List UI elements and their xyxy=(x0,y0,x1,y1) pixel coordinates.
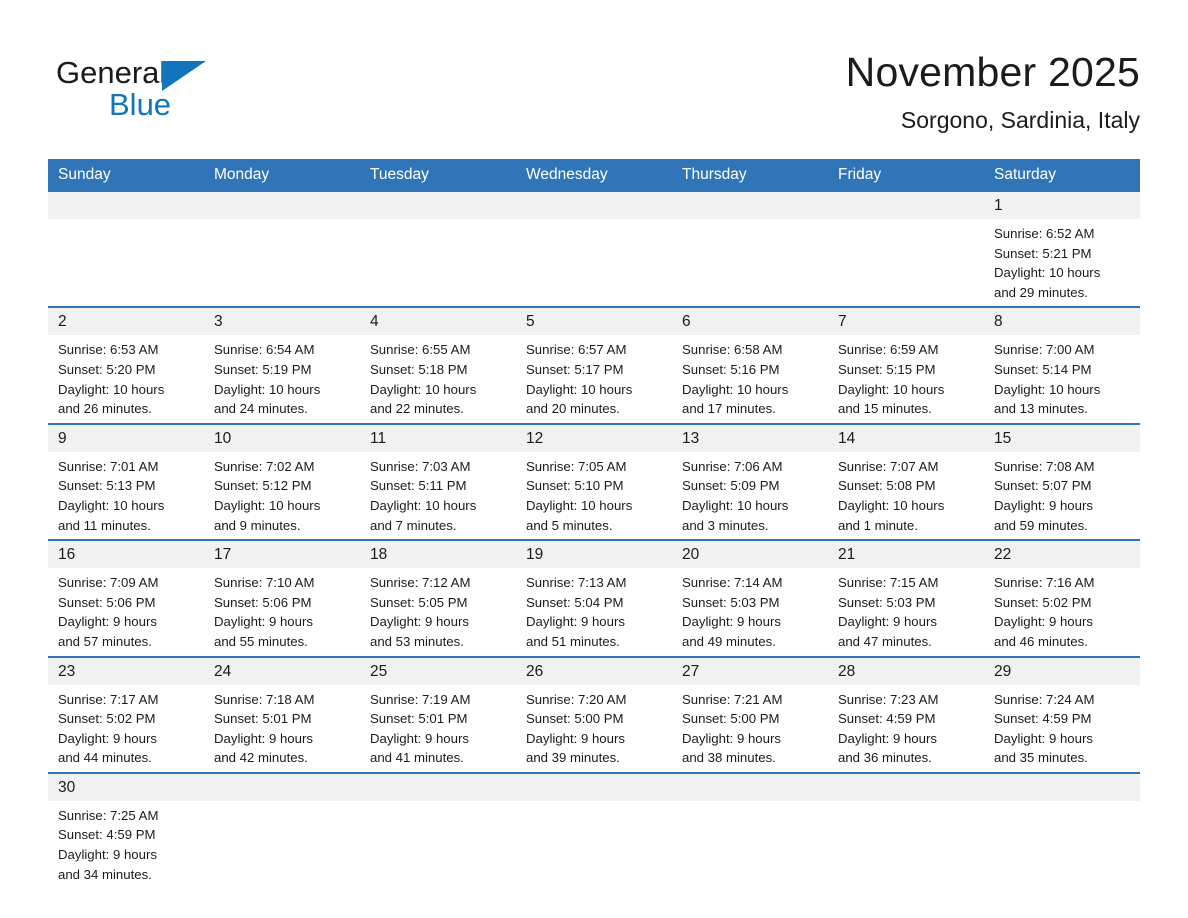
day-details: Sunrise: 7:13 AM Sunset: 5:04 PM Dayligh… xyxy=(516,568,672,655)
calendar-week-row: 23 Sunrise: 7:17 AM Sunset: 5:02 PM Dayl… xyxy=(48,657,1140,773)
day-number: 4 xyxy=(360,308,516,335)
day-details xyxy=(828,219,984,228)
daylight-text-line1: Daylight: 10 hours xyxy=(838,380,978,400)
daylight-text-line2: and 41 minutes. xyxy=(370,748,510,768)
sunset-text: Sunset: 5:05 PM xyxy=(370,593,510,613)
daylight-text-line2: and 55 minutes. xyxy=(214,632,354,652)
sunrise-text: Sunrise: 7:03 AM xyxy=(370,457,510,477)
day-number: 21 xyxy=(828,541,984,568)
sunset-text: Sunset: 5:17 PM xyxy=(526,360,666,380)
daylight-text-line2: and 26 minutes. xyxy=(58,399,198,419)
logo-text-blue: Blue xyxy=(109,86,171,124)
day-cell[interactable]: 8 Sunrise: 7:00 AM Sunset: 5:14 PM Dayli… xyxy=(984,307,1140,423)
sunset-text: Sunset: 5:00 PM xyxy=(682,709,822,729)
sunrise-text: Sunrise: 7:17 AM xyxy=(58,690,198,710)
day-cell[interactable] xyxy=(828,192,984,307)
day-number xyxy=(516,774,672,801)
day-number xyxy=(360,192,516,219)
location-subtitle: Sorgono, Sardinia, Italy xyxy=(440,104,1140,136)
day-number: 22 xyxy=(984,541,1140,568)
day-details: Sunrise: 6:57 AM Sunset: 5:17 PM Dayligh… xyxy=(516,335,672,422)
day-details xyxy=(516,219,672,228)
day-cell[interactable]: 6 Sunrise: 6:58 AM Sunset: 5:16 PM Dayli… xyxy=(672,307,828,423)
day-number: 8 xyxy=(984,308,1140,335)
daylight-text-line1: Daylight: 10 hours xyxy=(682,496,822,516)
sunset-text: Sunset: 5:13 PM xyxy=(58,476,198,496)
sunrise-text: Sunrise: 7:25 AM xyxy=(58,806,198,826)
day-number: 13 xyxy=(672,425,828,452)
sunset-text: Sunset: 5:04 PM xyxy=(526,593,666,613)
general-blue-logo[interactable]: General Blue xyxy=(56,54,336,144)
day-number: 23 xyxy=(48,658,204,685)
day-number: 19 xyxy=(516,541,672,568)
day-cell[interactable]: 4 Sunrise: 6:55 AM Sunset: 5:18 PM Dayli… xyxy=(360,307,516,423)
daylight-text-line1: Daylight: 10 hours xyxy=(370,380,510,400)
day-number: 15 xyxy=(984,425,1140,452)
weekday-header-friday: Friday xyxy=(828,159,984,192)
daylight-text-line1: Daylight: 10 hours xyxy=(58,496,198,516)
sunrise-text: Sunrise: 7:08 AM xyxy=(994,457,1134,477)
calendar-table: Sunday Monday Tuesday Wednesday Thursday… xyxy=(48,159,1140,888)
day-number: 1 xyxy=(984,192,1140,219)
page-title: November 2025 xyxy=(440,46,1140,98)
day-number: 28 xyxy=(828,658,984,685)
daylight-text-line2: and 59 minutes. xyxy=(994,516,1134,536)
daylight-text-line2: and 22 minutes. xyxy=(370,399,510,419)
sunrise-text: Sunrise: 7:21 AM xyxy=(682,690,822,710)
sunset-text: Sunset: 5:12 PM xyxy=(214,476,354,496)
day-details xyxy=(984,801,1140,810)
sunset-text: Sunset: 5:00 PM xyxy=(526,709,666,729)
daylight-text-line2: and 39 minutes. xyxy=(526,748,666,768)
daylight-text-line1: Daylight: 10 hours xyxy=(838,496,978,516)
day-details xyxy=(672,219,828,228)
day-cell[interactable] xyxy=(360,773,516,888)
day-details: Sunrise: 7:03 AM Sunset: 5:11 PM Dayligh… xyxy=(360,452,516,539)
day-number xyxy=(204,192,360,219)
day-number: 16 xyxy=(48,541,204,568)
day-number: 24 xyxy=(204,658,360,685)
day-number: 3 xyxy=(204,308,360,335)
daylight-text-line2: and 9 minutes. xyxy=(214,516,354,536)
day-cell[interactable]: 3 Sunrise: 6:54 AM Sunset: 5:19 PM Dayli… xyxy=(204,307,360,423)
sunset-text: Sunset: 5:03 PM xyxy=(838,593,978,613)
day-details: Sunrise: 7:06 AM Sunset: 5:09 PM Dayligh… xyxy=(672,452,828,539)
day-number xyxy=(516,192,672,219)
day-details xyxy=(48,219,204,228)
day-number xyxy=(984,774,1140,801)
day-details xyxy=(828,801,984,810)
daylight-text-line1: Daylight: 9 hours xyxy=(682,729,822,749)
day-details: Sunrise: 7:19 AM Sunset: 5:01 PM Dayligh… xyxy=(360,685,516,772)
day-number: 10 xyxy=(204,425,360,452)
day-details: Sunrise: 6:54 AM Sunset: 5:19 PM Dayligh… xyxy=(204,335,360,422)
day-details: Sunrise: 7:15 AM Sunset: 5:03 PM Dayligh… xyxy=(828,568,984,655)
daylight-text-line2: and 46 minutes. xyxy=(994,632,1134,652)
day-cell[interactable]: 16 Sunrise: 7:09 AM Sunset: 5:06 PM Dayl… xyxy=(48,540,204,656)
day-details: Sunrise: 7:16 AM Sunset: 5:02 PM Dayligh… xyxy=(984,568,1140,655)
daylight-text-line2: and 49 minutes. xyxy=(682,632,822,652)
sunrise-text: Sunrise: 7:12 AM xyxy=(370,573,510,593)
daylight-text-line2: and 15 minutes. xyxy=(838,399,978,419)
daylight-text-line1: Daylight: 9 hours xyxy=(994,496,1134,516)
day-details: Sunrise: 7:08 AM Sunset: 5:07 PM Dayligh… xyxy=(984,452,1140,539)
day-cell[interactable]: 20 Sunrise: 7:14 AM Sunset: 5:03 PM Dayl… xyxy=(672,540,828,656)
day-cell[interactable]: 18 Sunrise: 7:12 AM Sunset: 5:05 PM Dayl… xyxy=(360,540,516,656)
daylight-text-line1: Daylight: 10 hours xyxy=(994,263,1134,283)
day-details: Sunrise: 6:58 AM Sunset: 5:16 PM Dayligh… xyxy=(672,335,828,422)
day-cell[interactable]: 23 Sunrise: 7:17 AM Sunset: 5:02 PM Dayl… xyxy=(48,657,204,773)
day-number: 26 xyxy=(516,658,672,685)
sunset-text: Sunset: 5:01 PM xyxy=(370,709,510,729)
day-details: Sunrise: 6:53 AM Sunset: 5:20 PM Dayligh… xyxy=(48,335,204,422)
day-number: 6 xyxy=(672,308,828,335)
day-cell[interactable]: 17 Sunrise: 7:10 AM Sunset: 5:06 PM Dayl… xyxy=(204,540,360,656)
day-details: Sunrise: 7:17 AM Sunset: 5:02 PM Dayligh… xyxy=(48,685,204,772)
day-number: 12 xyxy=(516,425,672,452)
day-cell[interactable]: 30 Sunrise: 7:25 AM Sunset: 4:59 PM Dayl… xyxy=(48,773,204,888)
daylight-text-line1: Daylight: 9 hours xyxy=(526,729,666,749)
day-cell[interactable] xyxy=(204,192,360,307)
day-cell[interactable] xyxy=(516,773,672,888)
day-number xyxy=(672,192,828,219)
sunset-text: Sunset: 5:02 PM xyxy=(58,709,198,729)
daylight-text-line2: and 34 minutes. xyxy=(58,865,198,885)
day-cell[interactable]: 12 Sunrise: 7:05 AM Sunset: 5:10 PM Dayl… xyxy=(516,424,672,540)
sunset-text: Sunset: 5:20 PM xyxy=(58,360,198,380)
sunrise-text: Sunrise: 7:09 AM xyxy=(58,573,198,593)
daylight-text-line1: Daylight: 9 hours xyxy=(58,729,198,749)
day-details: Sunrise: 6:55 AM Sunset: 5:18 PM Dayligh… xyxy=(360,335,516,422)
page-header: General Blue November 2025 Sorgono, Sard… xyxy=(48,46,1140,151)
day-details: Sunrise: 7:00 AM Sunset: 5:14 PM Dayligh… xyxy=(984,335,1140,422)
sunrise-text: Sunrise: 7:20 AM xyxy=(526,690,666,710)
day-number: 11 xyxy=(360,425,516,452)
day-cell[interactable]: 1 Sunrise: 6:52 AM Sunset: 5:21 PM Dayli… xyxy=(984,192,1140,307)
sunrise-text: Sunrise: 7:16 AM xyxy=(994,573,1134,593)
sunrise-text: Sunrise: 7:13 AM xyxy=(526,573,666,593)
sunset-text: Sunset: 5:07 PM xyxy=(994,476,1134,496)
day-cell[interactable]: 2 Sunrise: 6:53 AM Sunset: 5:20 PM Dayli… xyxy=(48,307,204,423)
day-details: Sunrise: 7:25 AM Sunset: 4:59 PM Dayligh… xyxy=(48,801,204,888)
day-cell[interactable]: 11 Sunrise: 7:03 AM Sunset: 5:11 PM Dayl… xyxy=(360,424,516,540)
day-cell[interactable]: 28 Sunrise: 7:23 AM Sunset: 4:59 PM Dayl… xyxy=(828,657,984,773)
weekday-header-wednesday: Wednesday xyxy=(516,159,672,192)
calendar-week-row: 9 Sunrise: 7:01 AM Sunset: 5:13 PM Dayli… xyxy=(48,424,1140,540)
day-details xyxy=(204,801,360,810)
day-cell[interactable]: 9 Sunrise: 7:01 AM Sunset: 5:13 PM Dayli… xyxy=(48,424,204,540)
daylight-text-line1: Daylight: 10 hours xyxy=(682,380,822,400)
sunrise-text: Sunrise: 7:06 AM xyxy=(682,457,822,477)
daylight-text-line2: and 47 minutes. xyxy=(838,632,978,652)
sunset-text: Sunset: 5:01 PM xyxy=(214,709,354,729)
daylight-text-line2: and 44 minutes. xyxy=(58,748,198,768)
day-number: 7 xyxy=(828,308,984,335)
daylight-text-line1: Daylight: 9 hours xyxy=(370,612,510,632)
day-details: Sunrise: 6:52 AM Sunset: 5:21 PM Dayligh… xyxy=(984,219,1140,306)
day-details xyxy=(204,219,360,228)
daylight-text-line1: Daylight: 9 hours xyxy=(370,729,510,749)
daylight-text-line2: and 17 minutes. xyxy=(682,399,822,419)
sunrise-text: Sunrise: 7:18 AM xyxy=(214,690,354,710)
weekday-header-thursday: Thursday xyxy=(672,159,828,192)
day-number: 2 xyxy=(48,308,204,335)
calendar-week-row: 2 Sunrise: 6:53 AM Sunset: 5:20 PM Dayli… xyxy=(48,307,1140,423)
sunrise-text: Sunrise: 7:00 AM xyxy=(994,340,1134,360)
daylight-text-line2: and 20 minutes. xyxy=(526,399,666,419)
day-details: Sunrise: 7:20 AM Sunset: 5:00 PM Dayligh… xyxy=(516,685,672,772)
day-number: 14 xyxy=(828,425,984,452)
daylight-text-line1: Daylight: 9 hours xyxy=(838,729,978,749)
daylight-text-line2: and 1 minute. xyxy=(838,516,978,536)
daylight-text-line1: Daylight: 9 hours xyxy=(58,612,198,632)
calendar-header-row: Sunday Monday Tuesday Wednesday Thursday… xyxy=(48,159,1140,192)
daylight-text-line2: and 35 minutes. xyxy=(994,748,1134,768)
sunset-text: Sunset: 5:15 PM xyxy=(838,360,978,380)
day-details: Sunrise: 7:24 AM Sunset: 4:59 PM Dayligh… xyxy=(984,685,1140,772)
daylight-text-line1: Daylight: 9 hours xyxy=(214,612,354,632)
daylight-text-line2: and 3 minutes. xyxy=(682,516,822,536)
sunset-text: Sunset: 5:08 PM xyxy=(838,476,978,496)
daylight-text-line1: Daylight: 10 hours xyxy=(214,496,354,516)
sunrise-text: Sunrise: 7:02 AM xyxy=(214,457,354,477)
daylight-text-line2: and 57 minutes. xyxy=(58,632,198,652)
sunset-text: Sunset: 5:11 PM xyxy=(370,476,510,496)
daylight-text-line2: and 11 minutes. xyxy=(58,516,198,536)
day-number xyxy=(360,774,516,801)
day-details: Sunrise: 6:59 AM Sunset: 5:15 PM Dayligh… xyxy=(828,335,984,422)
weekday-header-monday: Monday xyxy=(204,159,360,192)
sunrise-text: Sunrise: 7:19 AM xyxy=(370,690,510,710)
day-cell[interactable]: 29 Sunrise: 7:24 AM Sunset: 4:59 PM Dayl… xyxy=(984,657,1140,773)
day-number: 9 xyxy=(48,425,204,452)
day-cell[interactable]: 10 Sunrise: 7:02 AM Sunset: 5:12 PM Dayl… xyxy=(204,424,360,540)
sunrise-text: Sunrise: 7:14 AM xyxy=(682,573,822,593)
day-number xyxy=(48,192,204,219)
sunrise-text: Sunrise: 6:58 AM xyxy=(682,340,822,360)
daylight-text-line1: Daylight: 9 hours xyxy=(994,729,1134,749)
daylight-text-line2: and 5 minutes. xyxy=(526,516,666,536)
calendar-page: General Blue November 2025 Sorgono, Sard… xyxy=(0,0,1188,918)
daylight-text-line1: Daylight: 10 hours xyxy=(994,380,1134,400)
day-details xyxy=(360,801,516,810)
sunrise-text: Sunrise: 6:52 AM xyxy=(994,224,1134,244)
day-details: Sunrise: 7:14 AM Sunset: 5:03 PM Dayligh… xyxy=(672,568,828,655)
day-cell[interactable] xyxy=(672,773,828,888)
day-cell[interactable] xyxy=(48,192,204,307)
day-number xyxy=(672,774,828,801)
daylight-text-line2: and 7 minutes. xyxy=(370,516,510,536)
daylight-text-line1: Daylight: 10 hours xyxy=(526,496,666,516)
sunrise-text: Sunrise: 6:57 AM xyxy=(526,340,666,360)
sunrise-text: Sunrise: 7:01 AM xyxy=(58,457,198,477)
day-cell[interactable]: 14 Sunrise: 7:07 AM Sunset: 5:08 PM Dayl… xyxy=(828,424,984,540)
calendar-body: 1 Sunrise: 6:52 AM Sunset: 5:21 PM Dayli… xyxy=(48,192,1140,888)
day-number: 5 xyxy=(516,308,672,335)
daylight-text-line1: Daylight: 10 hours xyxy=(58,380,198,400)
day-cell[interactable] xyxy=(360,192,516,307)
day-cell[interactable] xyxy=(516,192,672,307)
calendar-week-row: 30 Sunrise: 7:25 AM Sunset: 4:59 PM Dayl… xyxy=(48,773,1140,888)
day-cell[interactable]: 26 Sunrise: 7:20 AM Sunset: 5:00 PM Dayl… xyxy=(516,657,672,773)
day-details: Sunrise: 7:01 AM Sunset: 5:13 PM Dayligh… xyxy=(48,452,204,539)
daylight-text-line2: and 13 minutes. xyxy=(994,399,1134,419)
day-details: Sunrise: 7:02 AM Sunset: 5:12 PM Dayligh… xyxy=(204,452,360,539)
day-details: Sunrise: 7:05 AM Sunset: 5:10 PM Dayligh… xyxy=(516,452,672,539)
sunset-text: Sunset: 5:02 PM xyxy=(994,593,1134,613)
sunset-text: Sunset: 5:06 PM xyxy=(214,593,354,613)
sunrise-text: Sunrise: 7:05 AM xyxy=(526,457,666,477)
day-cell[interactable]: 7 Sunrise: 6:59 AM Sunset: 5:15 PM Dayli… xyxy=(828,307,984,423)
day-cell[interactable] xyxy=(204,773,360,888)
daylight-text-line1: Daylight: 9 hours xyxy=(838,612,978,632)
day-cell[interactable]: 15 Sunrise: 7:08 AM Sunset: 5:07 PM Dayl… xyxy=(984,424,1140,540)
sunrise-text: Sunrise: 7:10 AM xyxy=(214,573,354,593)
day-cell[interactable]: 5 Sunrise: 6:57 AM Sunset: 5:17 PM Dayli… xyxy=(516,307,672,423)
day-number: 29 xyxy=(984,658,1140,685)
day-cell[interactable]: 22 Sunrise: 7:16 AM Sunset: 5:02 PM Dayl… xyxy=(984,540,1140,656)
day-cell[interactable]: 25 Sunrise: 7:19 AM Sunset: 5:01 PM Dayl… xyxy=(360,657,516,773)
day-details: Sunrise: 7:10 AM Sunset: 5:06 PM Dayligh… xyxy=(204,568,360,655)
daylight-text-line1: Daylight: 9 hours xyxy=(214,729,354,749)
day-number xyxy=(204,774,360,801)
daylight-text-line1: Daylight: 10 hours xyxy=(526,380,666,400)
daylight-text-line2: and 51 minutes. xyxy=(526,632,666,652)
sunrise-text: Sunrise: 7:23 AM xyxy=(838,690,978,710)
day-number: 30 xyxy=(48,774,204,801)
daylight-text-line1: Daylight: 9 hours xyxy=(682,612,822,632)
sunrise-text: Sunrise: 7:07 AM xyxy=(838,457,978,477)
day-details xyxy=(360,219,516,228)
day-details: Sunrise: 7:07 AM Sunset: 5:08 PM Dayligh… xyxy=(828,452,984,539)
day-details: Sunrise: 7:09 AM Sunset: 5:06 PM Dayligh… xyxy=(48,568,204,655)
day-cell[interactable] xyxy=(828,773,984,888)
sunset-text: Sunset: 5:19 PM xyxy=(214,360,354,380)
sunset-text: Sunset: 5:06 PM xyxy=(58,593,198,613)
daylight-text-line2: and 24 minutes. xyxy=(214,399,354,419)
daylight-text-line2: and 29 minutes. xyxy=(994,283,1134,303)
weekday-header-tuesday: Tuesday xyxy=(360,159,516,192)
day-cell[interactable]: 19 Sunrise: 7:13 AM Sunset: 5:04 PM Dayl… xyxy=(516,540,672,656)
calendar-week-row: 1 Sunrise: 6:52 AM Sunset: 5:21 PM Dayli… xyxy=(48,192,1140,307)
sunrise-text: Sunrise: 7:15 AM xyxy=(838,573,978,593)
day-number xyxy=(828,774,984,801)
daylight-text-line1: Daylight: 9 hours xyxy=(526,612,666,632)
sunset-text: Sunset: 4:59 PM xyxy=(838,709,978,729)
daylight-text-line2: and 36 minutes. xyxy=(838,748,978,768)
title-block: November 2025 Sorgono, Sardinia, Italy xyxy=(440,46,1140,136)
sunrise-text: Sunrise: 6:59 AM xyxy=(838,340,978,360)
daylight-text-line2: and 42 minutes. xyxy=(214,748,354,768)
day-cell[interactable]: 27 Sunrise: 7:21 AM Sunset: 5:00 PM Dayl… xyxy=(672,657,828,773)
sunset-text: Sunset: 5:03 PM xyxy=(682,593,822,613)
day-cell[interactable]: 13 Sunrise: 7:06 AM Sunset: 5:09 PM Dayl… xyxy=(672,424,828,540)
day-number: 20 xyxy=(672,541,828,568)
daylight-text-line1: Daylight: 10 hours xyxy=(214,380,354,400)
day-cell[interactable]: 21 Sunrise: 7:15 AM Sunset: 5:03 PM Dayl… xyxy=(828,540,984,656)
sunset-text: Sunset: 5:18 PM xyxy=(370,360,510,380)
daylight-text-line2: and 53 minutes. xyxy=(370,632,510,652)
weekday-header-saturday: Saturday xyxy=(984,159,1140,192)
sunrise-text: Sunrise: 6:53 AM xyxy=(58,340,198,360)
sunset-text: Sunset: 5:10 PM xyxy=(526,476,666,496)
sunset-text: Sunset: 5:09 PM xyxy=(682,476,822,496)
sunset-text: Sunset: 5:16 PM xyxy=(682,360,822,380)
day-cell[interactable] xyxy=(672,192,828,307)
daylight-text-line1: Daylight: 9 hours xyxy=(994,612,1134,632)
daylight-text-line2: and 38 minutes. xyxy=(682,748,822,768)
day-cell[interactable] xyxy=(984,773,1140,888)
day-details xyxy=(516,801,672,810)
day-details: Sunrise: 7:21 AM Sunset: 5:00 PM Dayligh… xyxy=(672,685,828,772)
day-number xyxy=(828,192,984,219)
sunrise-text: Sunrise: 6:54 AM xyxy=(214,340,354,360)
sunset-text: Sunset: 4:59 PM xyxy=(58,825,198,845)
daylight-text-line1: Daylight: 9 hours xyxy=(58,845,198,865)
sunrise-text: Sunrise: 6:55 AM xyxy=(370,340,510,360)
sunrise-text: Sunrise: 7:24 AM xyxy=(994,690,1134,710)
day-number: 27 xyxy=(672,658,828,685)
daylight-text-line1: Daylight: 10 hours xyxy=(370,496,510,516)
day-details xyxy=(672,801,828,810)
sunset-text: Sunset: 5:14 PM xyxy=(994,360,1134,380)
day-number: 25 xyxy=(360,658,516,685)
sunset-text: Sunset: 4:59 PM xyxy=(994,709,1134,729)
sunset-text: Sunset: 5:21 PM xyxy=(994,244,1134,264)
day-number: 18 xyxy=(360,541,516,568)
day-details: Sunrise: 7:12 AM Sunset: 5:05 PM Dayligh… xyxy=(360,568,516,655)
day-details: Sunrise: 7:23 AM Sunset: 4:59 PM Dayligh… xyxy=(828,685,984,772)
calendar-week-row: 16 Sunrise: 7:09 AM Sunset: 5:06 PM Dayl… xyxy=(48,540,1140,656)
day-details: Sunrise: 7:18 AM Sunset: 5:01 PM Dayligh… xyxy=(204,685,360,772)
weekday-header-sunday: Sunday xyxy=(48,159,204,192)
day-cell[interactable]: 24 Sunrise: 7:18 AM Sunset: 5:01 PM Dayl… xyxy=(204,657,360,773)
day-number: 17 xyxy=(204,541,360,568)
